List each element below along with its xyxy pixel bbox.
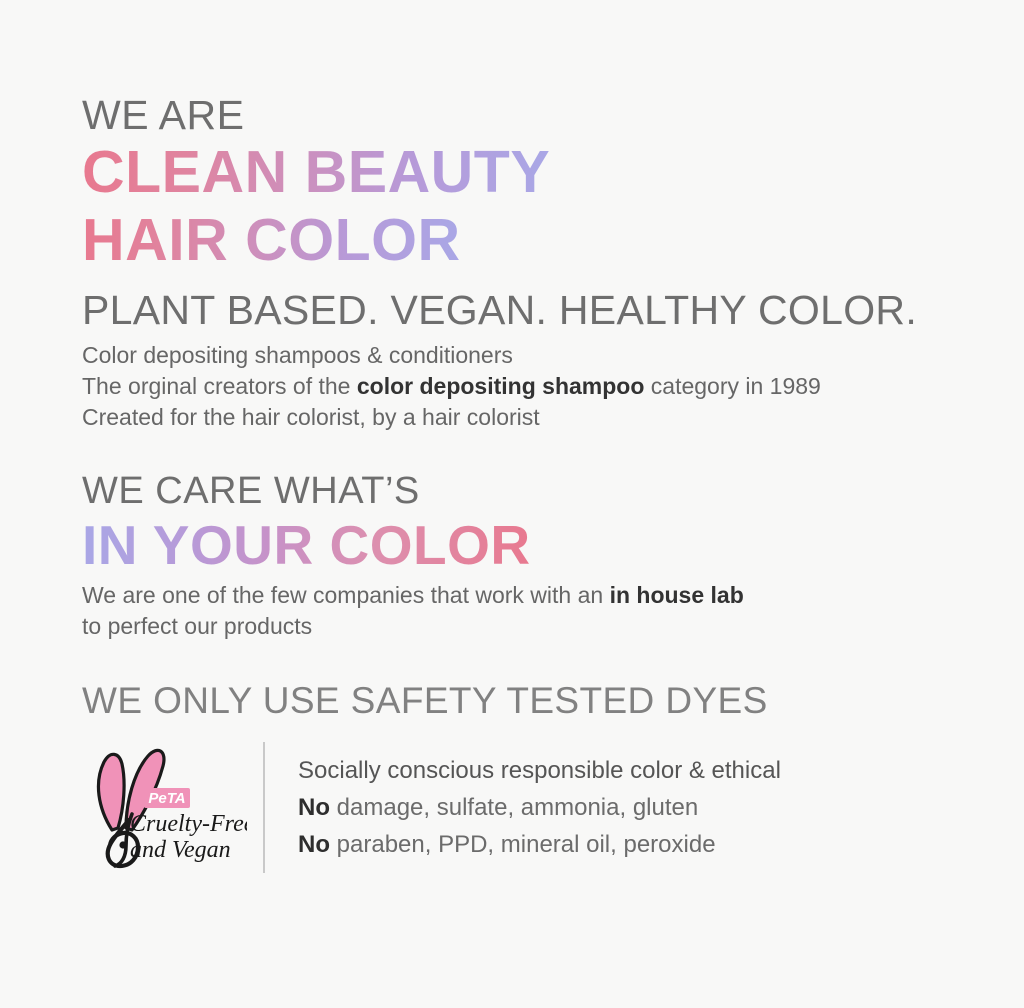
peta-cruelty-free-logo: PeTA Cruelty-Free and Vegan [82, 742, 247, 872]
hero-eyebrow: WE ARE [82, 90, 982, 140]
peta-caption-line-2: and Vegan [130, 837, 231, 863]
hero-headline-line-1-wrap: CLEAN BEAUTY [82, 142, 982, 202]
care-body-line-2: to perfect our products [82, 611, 982, 642]
intro-line-2-strong: color depositing shampoo [357, 373, 645, 399]
bottom-row: PeTA Cruelty-Free and Vegan Socially con… [82, 742, 962, 882]
peta-bunny-icon: PeTA Cruelty-Free and Vegan [82, 742, 247, 872]
care-headline: IN YOUR COLOR [82, 516, 531, 574]
intro-line-2: The orginal creators of the color deposi… [82, 371, 982, 402]
vertical-divider [263, 742, 265, 873]
hero-tagline: PLANT BASED. VEGAN. HEALTHY COLOR. [82, 284, 982, 336]
hero-headline-line-2: HAIR COLOR [82, 210, 461, 270]
care-eyebrow: WE CARE WHAT’S [82, 468, 982, 514]
care-body-strong: in house lab [610, 582, 744, 608]
claims-list: Socially conscious responsible color & e… [298, 752, 781, 863]
dyes-heading: WE ONLY USE SAFETY TESTED DYES [82, 678, 768, 724]
peta-badge-text: PeTA [148, 790, 185, 807]
care-body-prefix: We are one of the few companies that wor… [82, 582, 610, 608]
hero-headline-line-2-wrap: HAIR COLOR [82, 210, 982, 270]
care-headline-wrap: IN YOUR COLOR [82, 514, 982, 574]
care-body-line-1: We are one of the few companies that wor… [82, 580, 982, 611]
intro-line-1: Color depositing shampoos & conditioners [82, 340, 982, 371]
care-block: WE CARE WHAT’S IN YOUR COLOR [82, 468, 982, 574]
claim-item-2-no: No [298, 794, 330, 821]
intro-line-3: Created for the hair colorist, by a hair… [82, 402, 982, 433]
poster-canvas: WE ARE CLEAN BEAUTY HAIR COLOR PLANT BAS… [0, 0, 1024, 1008]
intro-line-2-suffix: category in 1989 [644, 373, 820, 399]
hero-headline-line-1: CLEAN BEAUTY [82, 142, 550, 202]
claim-item-3: No paraben, PPD, mineral oil, peroxide [298, 826, 781, 863]
intro-copy-block: Color depositing shampoos & conditioners… [82, 340, 982, 433]
intro-line-2-prefix: The orginal creators of the [82, 373, 357, 399]
claim-item-3-rest: paraben, PPD, mineral oil, peroxide [330, 831, 716, 858]
claim-item-2: No damage, sulfate, ammonia, gluten [298, 789, 781, 826]
claim-item-3-no: No [298, 831, 330, 858]
peta-caption-line-1: Cruelty-Free [130, 811, 247, 837]
claim-item-1: Socially conscious responsible color & e… [298, 752, 781, 789]
care-copy-block: We are one of the few companies that wor… [82, 580, 982, 642]
claim-item-2-rest: damage, sulfate, ammonia, gluten [330, 794, 698, 821]
hero-block: WE ARE CLEAN BEAUTY HAIR COLOR PLANT BAS… [82, 90, 982, 336]
